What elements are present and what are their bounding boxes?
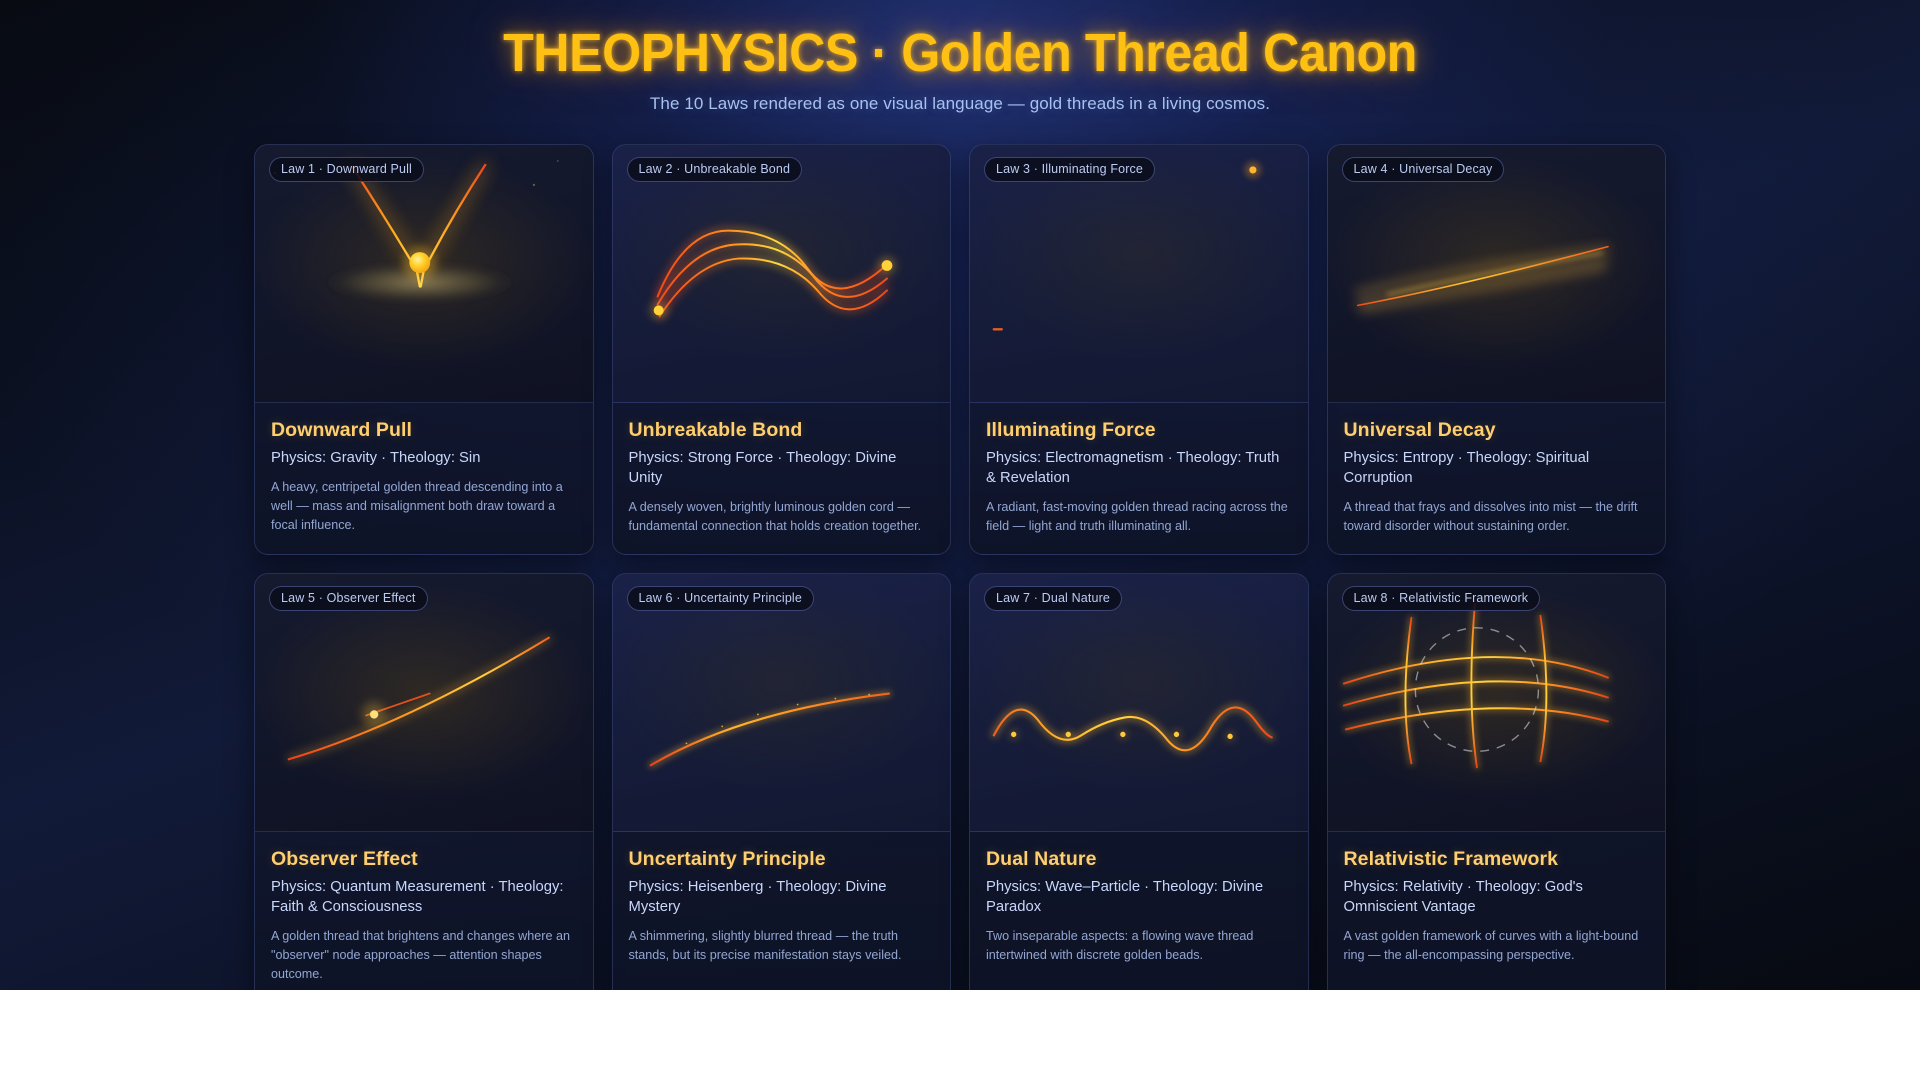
law-badge-6: Law 6 · Uncertainty Principle (627, 586, 814, 611)
law-card-4[interactable]: Law 4 · Universal Decay (1327, 144, 1667, 555)
law-card-1[interactable]: Law 1 · Downward Pull (254, 144, 594, 555)
law-meta-1: Physics: Gravity · Theology: Sin (271, 449, 577, 469)
law-card-3[interactable]: Law 3 · Illuminating Force Illuminating … (969, 144, 1309, 555)
law-meta-7: Physics: Wave–Particle · Theology: Divin… (986, 878, 1292, 918)
law-title-7: Dual Nature (986, 848, 1292, 871)
law-title-1: Downward Pull (271, 419, 577, 442)
law-card-body-6: Uncertainty Principle Physics: Heisenber… (613, 832, 951, 983)
braided-cord-icon (613, 145, 951, 402)
law-title-3: Illuminating Force (986, 419, 1292, 442)
law-desc-6: A shimmering, slightly blurred thread — … (629, 927, 935, 965)
law-card-body-8: Relativistic Framework Physics: Relativi… (1328, 832, 1666, 983)
law-desc-7: Two inseparable aspects: a flowing wave … (986, 927, 1292, 965)
page-root: THEOPHYSICS · Golden Thread Canon The 10… (0, 0, 1920, 990)
law-title-2: Unbreakable Bond (629, 419, 935, 442)
wave-beads-icon (970, 574, 1308, 831)
law-card-body-1: Downward Pull Physics: Gravity · Theolog… (255, 403, 593, 553)
law-card-7[interactable]: Law 7 · Dual Nature (969, 573, 1309, 990)
law-card-body-2: Unbreakable Bond Physics: Strong Force ·… (613, 403, 951, 554)
gravity-well-icon (255, 145, 593, 402)
law-badge-7: Law 7 · Dual Nature (984, 586, 1122, 611)
law-meta-4: Physics: Entropy · Theology: Spiritual C… (1344, 449, 1650, 489)
visualization-racing-light: Law 3 · Illuminating Force (970, 145, 1308, 403)
law-desc-4: A thread that frays and dissolves into m… (1344, 498, 1650, 536)
law-badge-2: Law 2 · Unbreakable Bond (627, 157, 803, 182)
law-desc-3: A radiant, fast-moving golden thread rac… (986, 498, 1292, 536)
visualization-braided-cord: Law 2 · Unbreakable Bond (613, 145, 951, 403)
visualization-wave-beads: Law 7 · Dual Nature (970, 574, 1308, 832)
law-title-6: Uncertainty Principle (629, 848, 935, 871)
law-meta-3: Physics: Electromagnetism · Theology: Tr… (986, 449, 1292, 489)
law-card-2[interactable]: Law 2 · Unbreakable Bond (612, 144, 952, 555)
law-card-body-5: Observer Effect Physics: Quantum Measure… (255, 832, 593, 990)
law-desc-8: A vast golden framework of curves with a… (1344, 927, 1650, 965)
law-desc-1: A heavy, centripetal golden thread desce… (271, 478, 577, 535)
law-card-6[interactable]: Law 6 · Uncertainty Principle (612, 573, 952, 990)
visualization-observer-node: Law 5 · Observer Effect (255, 574, 593, 832)
page-header: THEOPHYSICS · Golden Thread Canon The 10… (0, 0, 1920, 114)
observer-node-icon (255, 574, 593, 831)
law-meta-6: Physics: Heisenberg · Theology: Divine M… (629, 878, 935, 918)
law-desc-2: A densely woven, brightly luminous golde… (629, 498, 935, 536)
law-title-5: Observer Effect (271, 848, 577, 871)
law-card-8[interactable]: Law 8 · Relativistic Framework (1327, 573, 1667, 990)
page-title: THEOPHYSICS · Golden Thread Canon (67, 24, 1853, 82)
racing-light-icon (970, 145, 1308, 402)
law-title-8: Relativistic Framework (1344, 848, 1650, 871)
visualization-curved-grid: Law 8 · Relativistic Framework (1328, 574, 1666, 832)
page-subtitle: The 10 Laws rendered as one visual langu… (0, 94, 1920, 114)
law-card-body-3: Illuminating Force Physics: Electromagne… (970, 403, 1308, 554)
law-card-5[interactable]: Law 5 · Observer Effect (254, 573, 594, 990)
visualization-fraying-thread: Law 4 · Universal Decay (1328, 145, 1666, 403)
law-meta-2: Physics: Strong Force · Theology: Divine… (629, 449, 935, 489)
law-card-grid: Law 1 · Downward Pull (254, 144, 1666, 990)
law-badge-8: Law 8 · Relativistic Framework (1342, 586, 1541, 611)
law-desc-5: A golden thread that brightens and chang… (271, 927, 577, 984)
fraying-thread-icon (1328, 145, 1666, 402)
law-badge-1: Law 1 · Downward Pull (269, 157, 424, 182)
law-meta-5: Physics: Quantum Measurement · Theology:… (271, 878, 577, 918)
law-badge-4: Law 4 · Universal Decay (1342, 157, 1505, 182)
law-card-body-4: Universal Decay Physics: Entropy · Theol… (1328, 403, 1666, 554)
law-badge-3: Law 3 · Illuminating Force (984, 157, 1155, 182)
curved-grid-icon (1328, 574, 1666, 831)
visualization-blurred-arc: Law 6 · Uncertainty Principle (613, 574, 951, 832)
law-badge-5: Law 5 · Observer Effect (269, 586, 428, 611)
law-meta-8: Physics: Relativity · Theology: God's Om… (1344, 878, 1650, 918)
visualization-gravity-well: Law 1 · Downward Pull (255, 145, 593, 403)
blurred-arc-icon (613, 574, 951, 831)
law-title-4: Universal Decay (1344, 419, 1650, 442)
law-card-body-7: Dual Nature Physics: Wave–Particle · The… (970, 832, 1308, 983)
